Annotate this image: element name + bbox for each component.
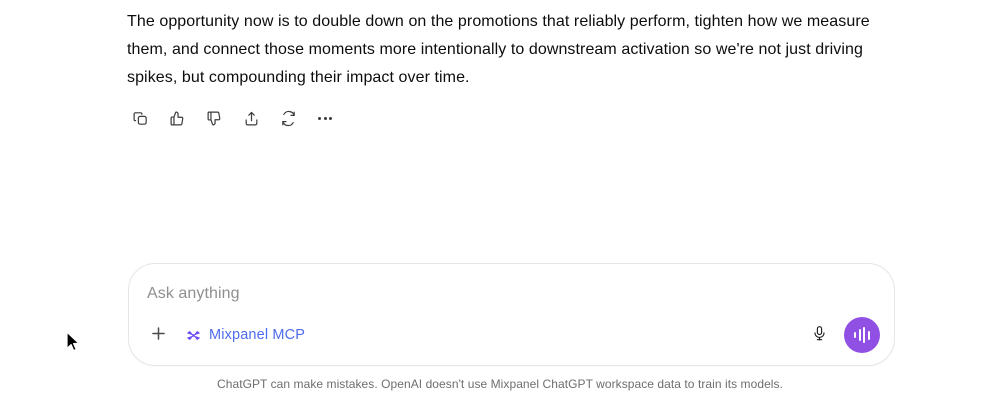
thumbs-down-icon [206,110,223,127]
share-upload-icon [243,110,260,127]
composer-toolbar: Mixpanel MCP [143,314,880,356]
regenerate-button[interactable] [274,104,302,132]
copy-button[interactable] [126,104,154,132]
thumbs-down-button[interactable] [200,104,228,132]
chat-canvas: The opportunity now is to double down on… [0,0,1000,400]
more-options-button[interactable] [311,104,339,132]
footer-disclaimer: ChatGPT can make mistakes. OpenAI doesn'… [0,376,1000,392]
assistant-message: The opportunity now is to double down on… [127,8,887,92]
dictate-button[interactable] [804,320,834,350]
mouse-cursor [66,331,82,353]
share-button[interactable] [237,104,265,132]
mixpanel-mcp-chip[interactable]: Mixpanel MCP [181,320,309,350]
composer-toolbar-left: Mixpanel MCP [143,320,309,350]
composer-toolbar-right [804,317,880,353]
composer-input-row[interactable]: Ask anything [147,282,876,306]
message-action-bar [126,104,339,132]
add-attachment-button[interactable] [143,320,173,350]
assistant-message-text: The opportunity now is to double down on… [127,8,887,92]
thumbs-up-button[interactable] [163,104,191,132]
copy-icon [132,110,149,127]
mixpanel-logo-icon [185,327,202,344]
mixpanel-mcp-label: Mixpanel MCP [209,328,305,343]
ellipsis-icon [318,117,332,120]
thumbs-up-icon [169,110,186,127]
message-composer[interactable]: Ask anything [128,263,895,366]
composer-input[interactable]: Ask anything [147,282,876,306]
voice-mode-button[interactable] [844,317,880,353]
microphone-icon [811,325,828,345]
waveform-icon [854,327,870,343]
plus-icon [149,324,168,346]
regenerate-icon [280,110,297,127]
